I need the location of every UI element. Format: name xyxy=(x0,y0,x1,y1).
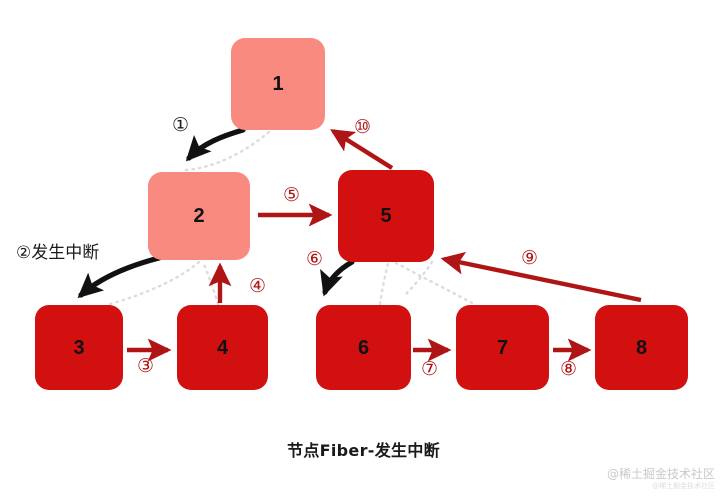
arrow-step-9 xyxy=(444,259,641,300)
node-5-label: 5 xyxy=(380,206,391,226)
node-5[interactable]: 5 xyxy=(338,170,434,262)
step-badge-3: ③ xyxy=(137,357,154,376)
node-6-label: 6 xyxy=(358,338,369,358)
node-1[interactable]: 1 xyxy=(231,38,325,130)
step-badge-4: ④ xyxy=(249,277,266,296)
return-edge-7-to-5 xyxy=(396,263,472,303)
node-2[interactable]: 2 xyxy=(148,172,250,260)
arrow-step-2 xyxy=(81,258,159,295)
watermark-sub: @稀土掘金技术社区 xyxy=(607,482,715,490)
step-badge-2-interrupt-note: ②发生中断 xyxy=(16,245,99,262)
return-edge-4-to-2 xyxy=(203,262,218,304)
step-badge-6: ⑥ xyxy=(306,250,323,269)
node-7[interactable]: 7 xyxy=(456,305,549,390)
step-badge-1: ① xyxy=(172,116,189,135)
node-4[interactable]: 4 xyxy=(177,305,268,390)
node-1-label: 1 xyxy=(272,74,283,94)
watermark-main: @稀土掘金技术社区 xyxy=(607,468,715,482)
return-edge-8-to-5 xyxy=(404,262,432,296)
arrow-step-6 xyxy=(325,262,352,292)
node-8[interactable]: 8 xyxy=(595,305,688,390)
node-3-label: 3 xyxy=(73,338,84,358)
step-badge-8: ⑧ xyxy=(560,360,577,379)
node-3[interactable]: 3 xyxy=(35,305,123,390)
step-badge-10: ⑩ xyxy=(354,118,371,137)
step-badge-9: ⑨ xyxy=(521,249,538,268)
step-badge-5: ⑤ xyxy=(283,186,300,205)
diagram-canvas: 1 2 5 3 4 6 7 8 ① ②发生中断 ③ ④ ⑤ ⑥ ⑦ ⑧ ⑨ ⑩ … xyxy=(0,0,727,500)
diagram-caption: 节点Fiber-发生中断 xyxy=(0,437,727,461)
node-6[interactable]: 6 xyxy=(316,305,411,390)
node-7-label: 7 xyxy=(497,338,508,358)
node-2-label: 2 xyxy=(193,206,204,226)
node-8-label: 8 xyxy=(636,338,647,358)
return-edge-6-to-5 xyxy=(380,263,388,304)
step-badge-7: ⑦ xyxy=(421,360,438,379)
watermark: @稀土掘金技术社区 @稀土掘金技术社区 xyxy=(607,468,715,490)
node-4-label: 4 xyxy=(217,338,228,358)
